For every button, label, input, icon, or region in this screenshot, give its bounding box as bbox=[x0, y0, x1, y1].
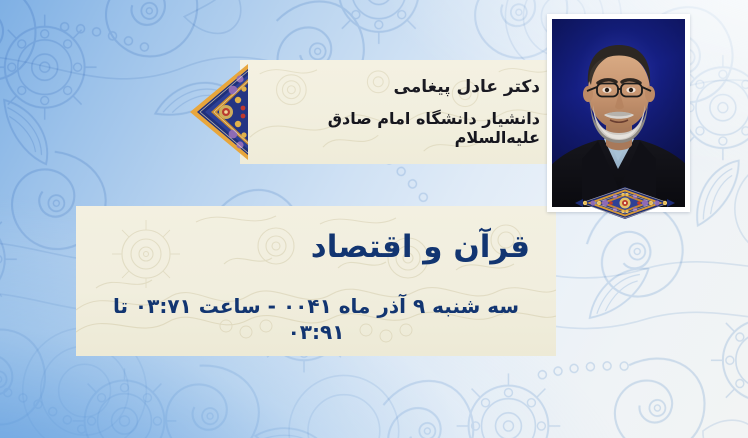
speaker-photo-frame bbox=[547, 14, 690, 212]
event-poster: دکتر عادل پیغامی دانشیار دانشگاه امام صا… bbox=[0, 0, 748, 438]
event-datetime: سه شنبه ۹ آذر ماه ۱۴۰۰ - ساعت ۱۷:۳۰ تا ۱… bbox=[102, 293, 530, 345]
event-title: قرآن و اقتصاد bbox=[102, 228, 530, 267]
speaker-affiliation: دانشیار دانشگاه امام صادق علیه‌السلام bbox=[280, 109, 540, 147]
event-details-panel: قرآن و اقتصاد سه شنبه ۹ آذر ماه ۱۴۰۰ - س… bbox=[76, 206, 556, 356]
speaker-photo bbox=[552, 19, 685, 207]
speaker-name: دکتر عادل پیغامی bbox=[280, 77, 540, 97]
speaker-info-box: دکتر عادل پیغامی دانشیار دانشگاه امام صا… bbox=[240, 60, 556, 164]
